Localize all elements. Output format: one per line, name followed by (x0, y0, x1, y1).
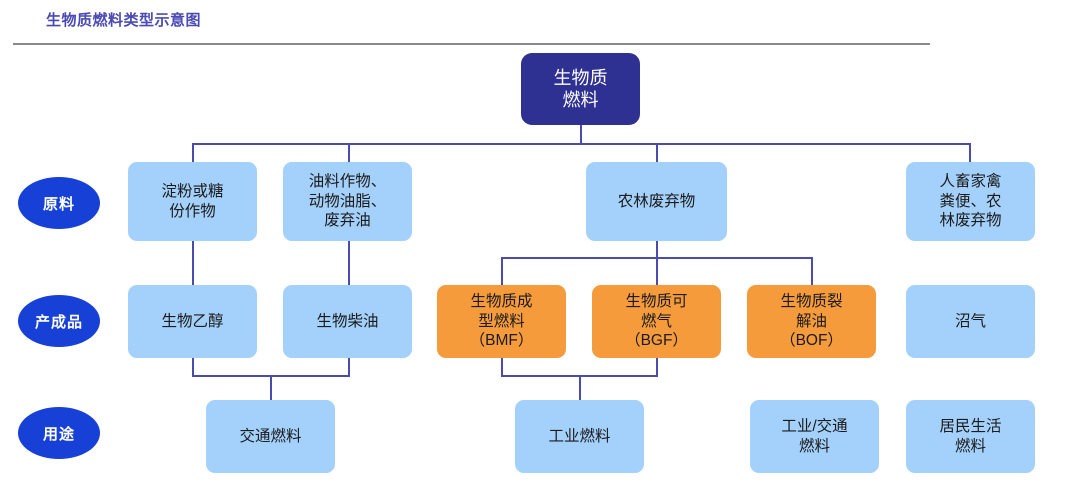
row-label-use: 用途 (18, 407, 100, 459)
connector-raw-material-bus (192, 143, 971, 145)
connector-oilcrops-to-biodiesel (348, 241, 350, 285)
connector-drop-bof (811, 257, 813, 285)
node-industrial-fuel[interactable]: 工业燃料 (515, 400, 644, 473)
node-biogas[interactable]: 沼气 (906, 285, 1035, 358)
node-biodiesel[interactable]: 生物柴油 (283, 285, 412, 358)
node-agro-forestry-waste[interactable]: 农林废弃物 (586, 162, 727, 241)
node-oil-crops-animal-fat-waste-oil[interactable]: 油料作物、 动物油脂、 废弃油 (283, 162, 412, 241)
diagram-canvas: 生物质燃料类型示意图 生物质 燃料 原料 产成品 用途 淀粉或糖 份作物 油料作… (0, 0, 1083, 487)
row-label-product: 产成品 (18, 295, 100, 347)
node-industrial-transport-fuel[interactable]: 工业/交通 燃料 (750, 400, 879, 473)
connector-drop-industrial-fuel (579, 375, 581, 400)
connector-drop-agro-forestry-waste (656, 143, 658, 162)
connector-agro-waste-stem (656, 241, 658, 258)
node-residential-living-fuel[interactable]: 居民生活 燃料 (906, 400, 1035, 473)
node-biomass-combustible-gas[interactable]: 生物质可 燃气 （BGF） (592, 285, 721, 358)
connector-drop-bmf (501, 257, 503, 285)
connector-drop-transport-fuel (270, 375, 272, 400)
node-biomass-molded-fuel[interactable]: 生物质成 型燃料 （BMF） (437, 285, 566, 358)
node-starch-sugar-crops[interactable]: 淀粉或糖 份作物 (128, 162, 257, 241)
connector-drop-starch-sugar-crops (192, 143, 194, 162)
node-biomass-fuel-root[interactable]: 生物质 燃料 (521, 53, 640, 125)
connector-drop-oil-crops (348, 143, 350, 162)
node-transport-fuel[interactable]: 交通燃料 (206, 400, 335, 473)
row-label-raw-material: 原料 (18, 177, 100, 229)
connector-drop-bgf (656, 257, 658, 285)
connector-starch-to-bioethanol (192, 241, 194, 285)
node-bioethanol[interactable]: 生物乙醇 (128, 285, 257, 358)
title-divider (13, 43, 930, 45)
page-title: 生物质燃料类型示意图 (46, 9, 201, 30)
node-livestock-poultry-manure-waste[interactable]: 人畜家禽 粪便、农 林废弃物 (906, 162, 1035, 241)
node-biomass-pyrolysis-oil[interactable]: 生物质裂 解油 （BOF） (747, 285, 876, 358)
connector-drop-livestock-manure (969, 143, 971, 162)
connector-root-stem (580, 125, 582, 144)
